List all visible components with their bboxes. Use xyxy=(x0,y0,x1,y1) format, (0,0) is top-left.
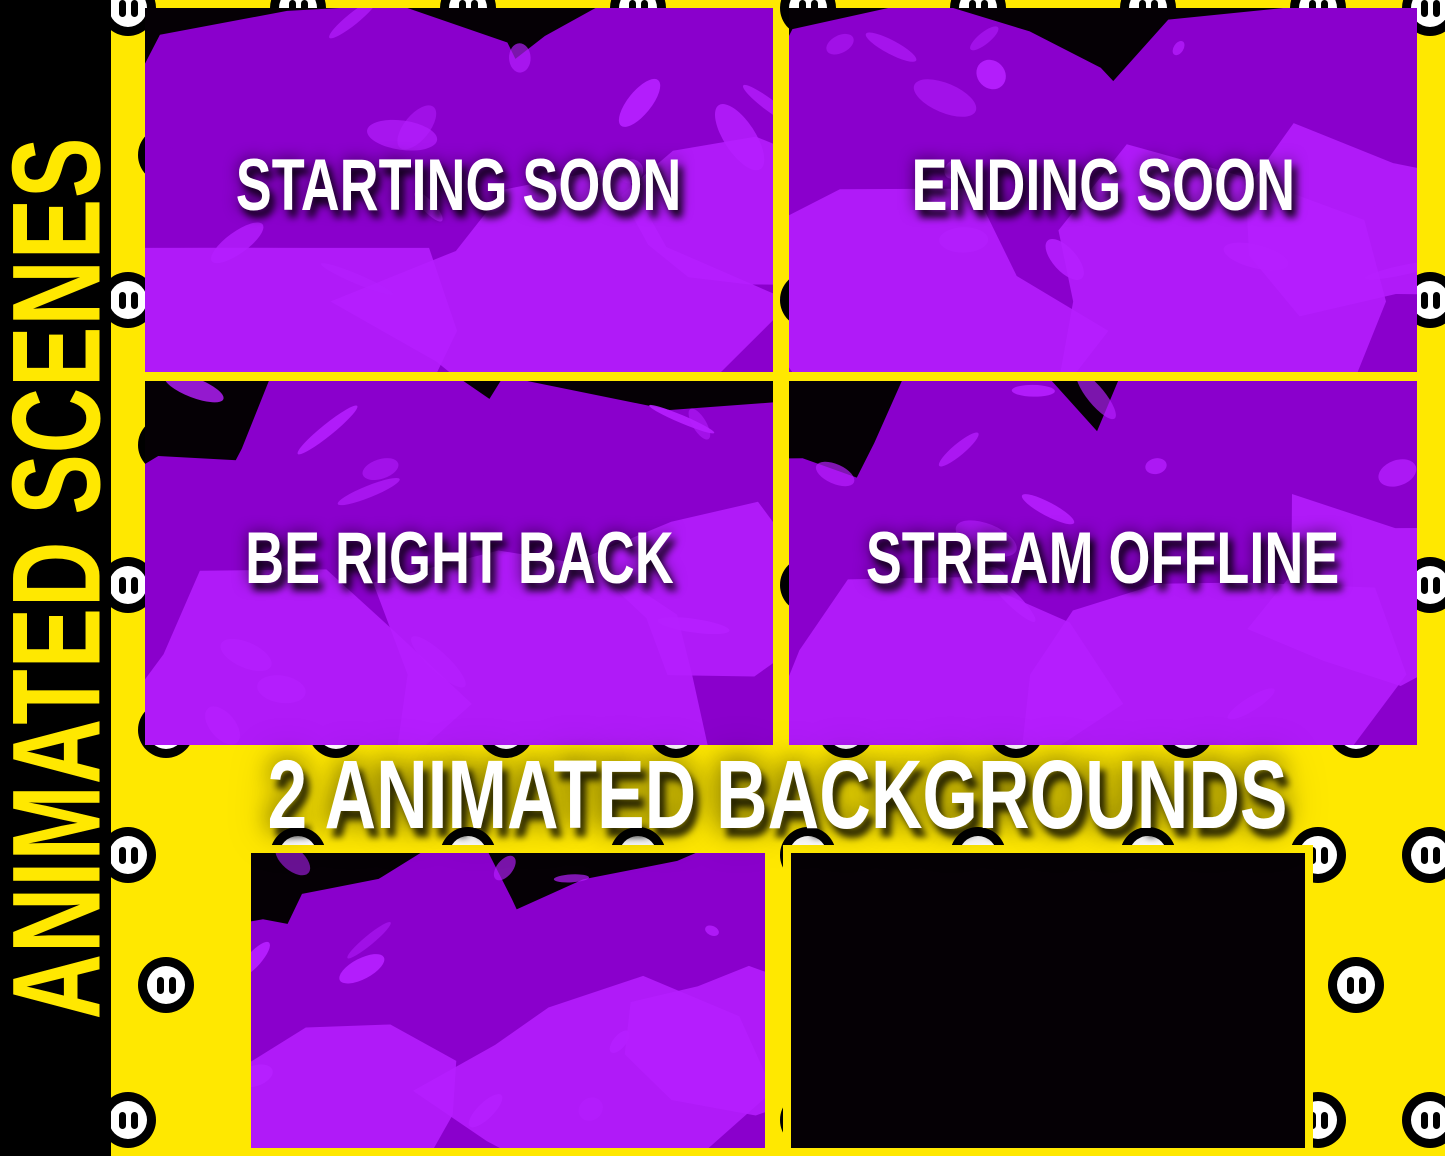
pause-bar-right xyxy=(1433,1112,1440,1129)
pause-bar-right xyxy=(131,847,138,864)
scene-label-text: STREAM OFFLINE xyxy=(866,522,1339,595)
pause-bar-right xyxy=(131,292,138,309)
pause-bar-right xyxy=(169,977,176,994)
pause-bar-right xyxy=(1433,292,1440,309)
pause-bar-left xyxy=(1421,1112,1428,1129)
pause-bar-right xyxy=(1321,1112,1328,1129)
scene-label-text: STARTING SOON xyxy=(236,149,682,222)
scene-label-starting-soon: STARTING SOON xyxy=(145,157,773,215)
pause-face-icon xyxy=(138,957,194,1013)
pause-bar-right xyxy=(131,577,138,594)
flame-icon-pattern xyxy=(783,845,1313,1156)
pause-face-inner xyxy=(109,1101,147,1139)
scene-panel-stream-offline[interactable]: STREAM OFFLINE xyxy=(789,381,1417,745)
pause-face-icon xyxy=(1402,827,1445,883)
pause-face-inner xyxy=(1411,836,1445,874)
flame-icon-pattern xyxy=(243,845,773,1156)
pause-bar-left xyxy=(1421,292,1428,309)
pause-bar-left xyxy=(119,1112,126,1129)
scene-label-be-right-back: BE RIGHT BACK xyxy=(145,530,773,588)
pause-bar-left xyxy=(1421,577,1428,594)
scene-label-stream-offline: STREAM OFFLINE xyxy=(789,530,1417,588)
sidebar: ANIMATED SCENES xyxy=(0,0,111,1156)
pause-bar-left xyxy=(119,0,126,17)
pause-face-inner xyxy=(109,0,147,27)
background-preview-background-purple[interactable] xyxy=(243,845,773,1156)
pause-bar-right xyxy=(1433,0,1440,17)
pause-bar-right xyxy=(131,1112,138,1129)
pause-bar-left xyxy=(157,977,164,994)
pause-face-icon xyxy=(1328,957,1384,1013)
scene-label-ending-soon: ENDING SOON xyxy=(789,157,1417,215)
pause-bar-right xyxy=(131,0,138,17)
poster-canvas: STARTING SOONENDING SOONBE RIGHT BACKSTR… xyxy=(0,0,1445,1156)
pause-bar-right xyxy=(1359,977,1366,994)
sidebar-title: ANIMATED SCENES xyxy=(4,76,107,1079)
pause-bar-left xyxy=(1421,847,1428,864)
pause-bar-right xyxy=(1433,847,1440,864)
scene-label-text: BE RIGHT BACK xyxy=(245,522,674,595)
pause-face-inner xyxy=(1337,966,1375,1004)
scene-label-text: ENDING SOON xyxy=(911,149,1295,222)
scene-panel-ending-soon[interactable]: ENDING SOON xyxy=(789,8,1417,372)
pause-bar-right xyxy=(1321,847,1328,864)
pause-bar-left xyxy=(1347,977,1354,994)
background-preview-background-dark[interactable] xyxy=(783,845,1313,1156)
scene-panel-starting-soon[interactable]: STARTING SOON xyxy=(145,8,773,372)
pause-face-inner xyxy=(1411,1101,1445,1139)
pause-bar-left xyxy=(1421,0,1428,17)
pause-bar-right xyxy=(1433,577,1440,594)
scene-panel-be-right-back[interactable]: BE RIGHT BACK xyxy=(145,381,773,745)
pause-face-icon xyxy=(1402,1092,1445,1148)
pause-face-inner xyxy=(147,966,185,1004)
